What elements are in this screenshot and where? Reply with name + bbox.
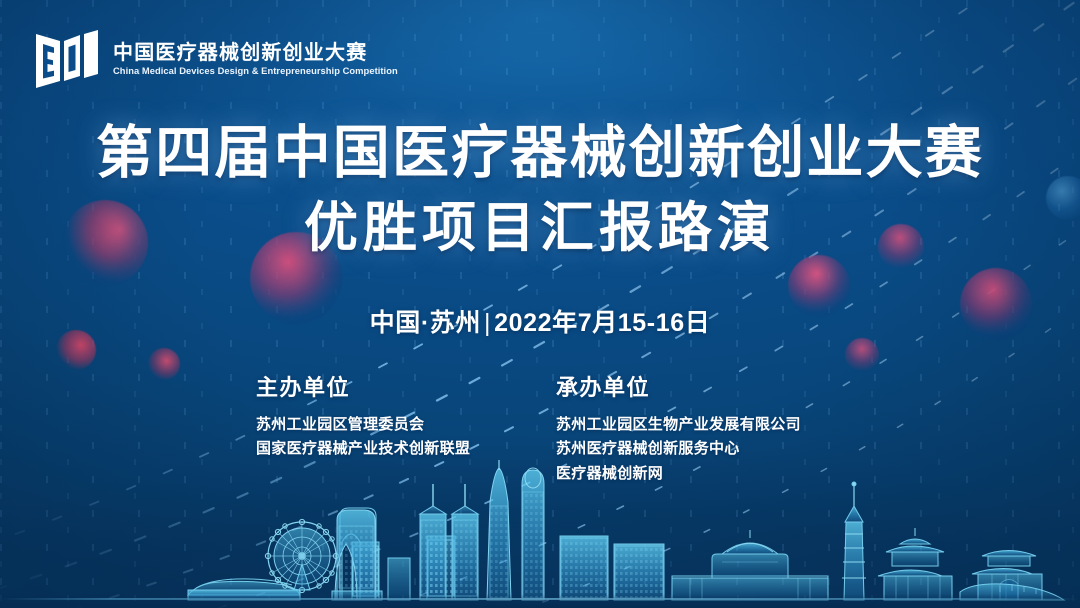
organizer-title-host: 主办单位 bbox=[256, 370, 540, 402]
organizer-item: 苏州工业园区生物产业发展有限公司 bbox=[556, 413, 840, 437]
organizer-item: 苏州工业园区管理委员会 bbox=[256, 413, 540, 437]
dateline-separator: | bbox=[481, 309, 494, 337]
brand-logo: 中国医疗器械创新创业大赛 China Medical Devices Desig… bbox=[34, 28, 402, 88]
event-location: 中国·苏州 bbox=[370, 309, 481, 337]
brand-name-cn: 中国医疗器械创新创业大赛 bbox=[113, 42, 402, 64]
brand-name-en: China Medical Devices Design & Entrepren… bbox=[113, 66, 398, 77]
headline-line-1: 第四届中国医疗器械创新创业大赛 bbox=[0, 120, 1080, 187]
sphere-right-lower bbox=[845, 338, 879, 372]
open-book-door-logo-icon bbox=[34, 28, 100, 88]
bottom-fade bbox=[0, 594, 1080, 608]
event-date: 2022年7月15-16日 bbox=[494, 309, 710, 337]
page-title: 第四届中国医疗器械创新创业大赛 优胜项目汇报路演 bbox=[0, 120, 1080, 263]
suzhou-city-skyline bbox=[0, 458, 1080, 608]
brand-logo-text: 中国医疗器械创新创业大赛 China Medical Devices Desig… bbox=[113, 38, 402, 77]
headline-line-2: 优胜项目汇报路演 bbox=[0, 193, 1080, 263]
event-poster: 中国医疗器械创新创业大赛 China Medical Devices Desig… bbox=[0, 0, 1080, 608]
event-dateline: 中国·苏州|2022年7月15-16日 bbox=[0, 303, 1080, 339]
organizer-title-co-host: 承办单位 bbox=[556, 370, 840, 402]
